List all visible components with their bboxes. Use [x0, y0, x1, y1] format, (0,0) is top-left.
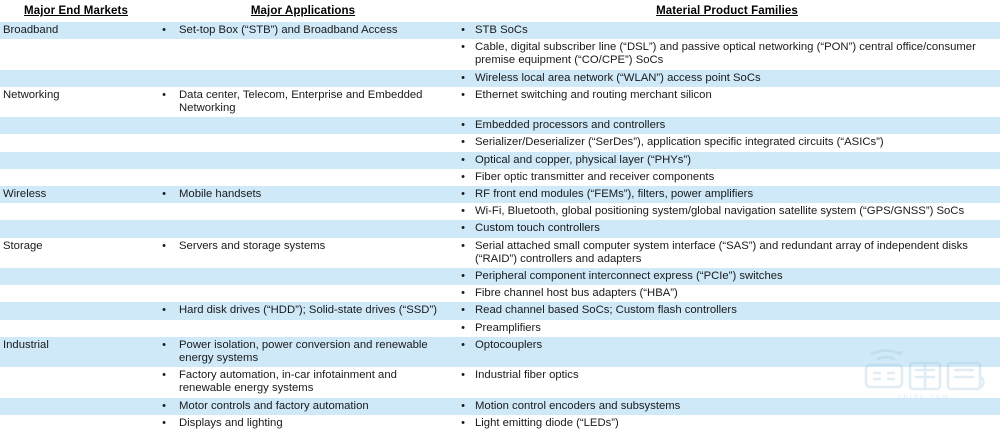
cell-product-family: •Ethernet switching and routing merchant… — [454, 87, 1000, 117]
table-row: Networking•Data center, Telecom, Enterpr… — [0, 87, 1000, 117]
bullet-icon: • — [454, 240, 472, 253]
bullet-icon: • — [454, 339, 472, 352]
bullet-icon: • — [454, 41, 472, 54]
application-bullet-text: Mobile handsets — [176, 188, 448, 201]
end-market-label: Wireless — [0, 186, 152, 203]
application-bullet-text: Motor controls and factory automation — [176, 400, 448, 413]
document-sheet: Major End Markets Major Applications Mat… — [0, 0, 1000, 410]
end-market-label — [0, 367, 152, 384]
application-bullet: •Mobile handsets — [152, 186, 454, 203]
table-header: Major End Markets Major Applications Mat… — [0, 0, 1000, 22]
product-family-bullet: •Embedded processors and controllers — [454, 117, 1000, 134]
bullet-icon: • — [454, 417, 472, 430]
table-row: •Fibre channel host bus adapters (“HBA”) — [0, 285, 1000, 302]
bullet-icon: • — [152, 89, 176, 102]
bullet-icon: • — [454, 369, 472, 382]
table-row: Industrial•Power isolation, power conver… — [0, 337, 1000, 367]
cell-end-market — [0, 117, 152, 134]
product-family-bullet: •Peripheral component interconnect expre… — [454, 268, 1000, 285]
end-market-label — [0, 320, 152, 337]
application-bullet — [152, 117, 454, 134]
end-market-label — [0, 268, 152, 285]
cell-product-family: •STB SoCs — [454, 22, 1000, 39]
cell-product-family: •Optical and copper, physical layer (“PH… — [454, 152, 1000, 169]
product-family-bullet: •Industrial fiber optics — [454, 367, 1000, 384]
cell-end-market — [0, 220, 152, 237]
bullet-icon: • — [152, 240, 176, 253]
bullet-icon: • — [454, 188, 472, 201]
application-bullet — [152, 169, 454, 186]
column-header-major-end-markets: Major End Markets — [0, 0, 152, 22]
cell-end-market: Industrial — [0, 337, 152, 367]
table-header-row: Major End Markets Major Applications Mat… — [0, 0, 1000, 22]
cell-application — [152, 320, 454, 337]
cell-end-market — [0, 285, 152, 302]
table-row: Broadband•Set-top Box (“STB”) and Broadb… — [0, 22, 1000, 39]
bullet-icon: • — [152, 400, 176, 413]
product-family-bullet-text: Light emitting diode (“LEDs”) — [472, 417, 994, 430]
cell-product-family: •Fibre channel host bus adapters (“HBA”) — [454, 285, 1000, 302]
cell-end-market: Networking — [0, 87, 152, 117]
bullet-icon: • — [152, 339, 176, 352]
cell-end-market — [0, 398, 152, 415]
application-bullet: •Servers and storage systems — [152, 238, 454, 255]
cell-application: •Hard disk drives (“HDD”); Solid-state d… — [152, 302, 454, 319]
cell-application: •Set-top Box (“STB”) and Broadband Acces… — [152, 22, 454, 39]
table-row: •Cable, digital subscriber line (“DSL”) … — [0, 39, 1000, 69]
table-row: •Preamplifiers — [0, 320, 1000, 337]
product-family-bullet: •Wireless local area network (“WLAN”) ac… — [454, 70, 1000, 87]
end-market-label — [0, 220, 152, 237]
cell-application: •Factory automation, in-car infotainment… — [152, 367, 454, 397]
cell-product-family: •Custom touch controllers — [454, 220, 1000, 237]
product-family-bullet-text: Preamplifiers — [472, 322, 994, 335]
cell-product-family: •Peripheral component interconnect expre… — [454, 268, 1000, 285]
cell-end-market: Broadband — [0, 22, 152, 39]
table-row: •Motor controls and factory automation•M… — [0, 398, 1000, 415]
column-header-major-applications: Major Applications — [152, 0, 454, 22]
table-row: •Fiber optic transmitter and receiver co… — [0, 169, 1000, 186]
bullet-icon: • — [152, 24, 176, 37]
product-family-bullet: •Optical and copper, physical layer (“PH… — [454, 152, 1000, 169]
bullet-icon: • — [454, 72, 472, 85]
cell-application: •Mobile handsets — [152, 186, 454, 203]
end-market-label: Storage — [0, 238, 152, 255]
product-family-bullet-text: Custom touch controllers — [472, 222, 994, 235]
application-bullet: •Set-top Box (“STB”) and Broadband Acces… — [152, 22, 454, 39]
product-family-bullet: •Preamplifiers — [454, 320, 1000, 337]
bullet-icon: • — [454, 304, 472, 317]
table-row: Storage•Servers and storage systems•Seri… — [0, 238, 1000, 268]
cell-end-market — [0, 320, 152, 337]
application-bullet-text: Displays and lighting — [176, 417, 448, 430]
table-row: •Embedded processors and controllers — [0, 117, 1000, 134]
bullet-icon: • — [454, 400, 472, 413]
application-bullet: •Motor controls and factory automation — [152, 398, 454, 415]
cell-end-market: Storage — [0, 238, 152, 268]
cell-end-market — [0, 169, 152, 186]
cell-application: •Servers and storage systems — [152, 238, 454, 268]
product-family-bullet-text: Optical and copper, physical layer (“PHY… — [472, 154, 994, 167]
table-row: •Wireless local area network (“WLAN”) ac… — [0, 70, 1000, 87]
cell-end-market — [0, 39, 152, 69]
bullet-icon: • — [454, 270, 472, 283]
bullet-icon: • — [454, 24, 472, 37]
application-bullet — [152, 320, 454, 337]
cell-application: •Displays and lighting — [152, 415, 454, 432]
cell-application: •Data center, Telecom, Enterprise and Em… — [152, 87, 454, 117]
application-bullet — [152, 70, 454, 87]
cell-product-family: •Industrial fiber optics — [454, 367, 1000, 397]
product-family-bullet: •Fibre channel host bus adapters (“HBA”) — [454, 285, 1000, 302]
table-row: •Displays and lighting•Light emitting di… — [0, 415, 1000, 432]
cell-application — [152, 152, 454, 169]
cell-product-family: •Motion control encoders and subsystems — [454, 398, 1000, 415]
product-family-bullet-text: Wireless local area network (“WLAN”) acc… — [472, 72, 994, 85]
cell-product-family: •Embedded processors and controllers — [454, 117, 1000, 134]
end-market-label — [0, 285, 152, 302]
table-row: •Peripheral component interconnect expre… — [0, 268, 1000, 285]
application-bullet-text: Power isolation, power conversion and re… — [176, 339, 448, 365]
cell-application — [152, 134, 454, 151]
application-bullet — [152, 268, 454, 285]
cell-application — [152, 203, 454, 220]
application-bullet: •Hard disk drives (“HDD”); Solid-state d… — [152, 302, 454, 319]
bullet-icon: • — [454, 322, 472, 335]
application-bullet-text: Data center, Telecom, Enterprise and Emb… — [176, 89, 448, 115]
column-header-material-product-families: Material Product Families — [454, 0, 1000, 22]
end-market-label: Industrial — [0, 337, 152, 354]
application-bullet — [152, 203, 454, 220]
end-market-label — [0, 39, 152, 56]
product-family-bullet: •STB SoCs — [454, 22, 1000, 39]
application-bullet-text: Factory automation, in-car infotainment … — [176, 369, 448, 395]
application-bullet: •Power isolation, power conversion and r… — [152, 337, 454, 367]
product-family-bullet-text: Peripheral component interconnect expres… — [472, 270, 994, 283]
cell-end-market — [0, 70, 152, 87]
table-row: •Wi-Fi, Bluetooth, global positioning sy… — [0, 203, 1000, 220]
application-bullet-text: Hard disk drives (“HDD”); Solid-state dr… — [176, 304, 448, 317]
cell-end-market — [0, 268, 152, 285]
end-market-label — [0, 302, 152, 319]
end-market-label — [0, 203, 152, 220]
end-market-label — [0, 415, 152, 432]
table-row: Wireless•Mobile handsets•RF front end mo… — [0, 186, 1000, 203]
end-market-label — [0, 70, 152, 87]
application-bullet — [152, 152, 454, 169]
end-markets-table: Major End Markets Major Applications Mat… — [0, 0, 1000, 432]
product-family-bullet-text: Cable, digital subscriber line (“DSL”) a… — [472, 41, 994, 67]
application-bullet-text: Set-top Box (“STB”) and Broadband Access — [176, 24, 448, 37]
cell-product-family: •Wireless local area network (“WLAN”) ac… — [454, 70, 1000, 87]
bullet-icon: • — [454, 119, 472, 132]
application-bullet — [152, 220, 454, 237]
cell-application — [152, 70, 454, 87]
bullet-icon: • — [454, 222, 472, 235]
cell-end-market — [0, 415, 152, 432]
application-bullet — [152, 285, 454, 302]
bullet-icon: • — [152, 188, 176, 201]
product-family-bullet-text: Embedded processors and controllers — [472, 119, 994, 132]
product-family-bullet: •Cable, digital subscriber line (“DSL”) … — [454, 39, 1000, 69]
cell-application — [152, 268, 454, 285]
application-bullet: •Factory automation, in-car infotainment… — [152, 367, 454, 397]
table-row: •Serializer/Deserializer (“SerDes”), app… — [0, 134, 1000, 151]
end-market-label — [0, 117, 152, 134]
bullet-icon: • — [454, 205, 472, 218]
product-family-bullet: •Fiber optic transmitter and receiver co… — [454, 169, 1000, 186]
product-family-bullet-text: Motion control encoders and subsystems — [472, 400, 994, 413]
product-family-bullet: •Light emitting diode (“LEDs”) — [454, 415, 1000, 432]
bullet-icon: • — [454, 171, 472, 184]
end-market-label — [0, 169, 152, 186]
end-market-label — [0, 134, 152, 151]
cell-end-market — [0, 367, 152, 397]
application-bullet: •Displays and lighting — [152, 415, 454, 432]
product-family-bullet-text: Industrial fiber optics — [472, 369, 994, 382]
application-bullet-text: Servers and storage systems — [176, 240, 448, 253]
cell-product-family: •Fiber optic transmitter and receiver co… — [454, 169, 1000, 186]
bullet-icon: • — [454, 89, 472, 102]
product-family-bullet-text: Serial attached small computer system in… — [472, 240, 994, 266]
cell-application: •Power isolation, power conversion and r… — [152, 337, 454, 367]
bullet-icon: • — [454, 136, 472, 149]
application-bullet — [152, 39, 454, 56]
product-family-bullet: •Serializer/Deserializer (“SerDes”), app… — [454, 134, 1000, 151]
product-family-bullet-text: Fibre channel host bus adapters (“HBA”) — [472, 287, 994, 300]
product-family-bullet: •Ethernet switching and routing merchant… — [454, 87, 1000, 104]
product-family-bullet-text: Ethernet switching and routing merchant … — [472, 89, 994, 102]
product-family-bullet: •Optocouplers — [454, 337, 1000, 354]
cell-end-market — [0, 152, 152, 169]
product-family-bullet: •Serial attached small computer system i… — [454, 238, 1000, 268]
cell-end-market — [0, 203, 152, 220]
cell-product-family: •Cable, digital subscriber line (“DSL”) … — [454, 39, 1000, 69]
bullet-icon: • — [152, 369, 176, 382]
cell-product-family: •Optocouplers — [454, 337, 1000, 367]
bullet-icon: • — [454, 287, 472, 300]
cell-product-family: •Read channel based SoCs; Custom flash c… — [454, 302, 1000, 319]
product-family-bullet: •Motion control encoders and subsystems — [454, 398, 1000, 415]
cell-product-family: •RF front end modules (“FEMs”), filters,… — [454, 186, 1000, 203]
cell-application: •Motor controls and factory automation — [152, 398, 454, 415]
product-family-bullet: •Custom touch controllers — [454, 220, 1000, 237]
product-family-bullet-text: STB SoCs — [472, 24, 994, 37]
product-family-bullet-text: Fiber optic transmitter and receiver com… — [472, 171, 994, 184]
end-market-label — [0, 152, 152, 169]
product-family-bullet-text: Optocouplers — [472, 339, 994, 352]
table-body: Broadband•Set-top Box (“STB”) and Broadb… — [0, 22, 1000, 432]
cell-end-market — [0, 302, 152, 319]
cell-application — [152, 220, 454, 237]
cell-application — [152, 117, 454, 134]
table-row: •Custom touch controllers — [0, 220, 1000, 237]
application-bullet: •Data center, Telecom, Enterprise and Em… — [152, 87, 454, 117]
end-market-label — [0, 398, 152, 415]
table-row: •Optical and copper, physical layer (“PH… — [0, 152, 1000, 169]
product-family-bullet: •Read channel based SoCs; Custom flash c… — [454, 302, 1000, 319]
product-family-bullet-text: Read channel based SoCs; Custom flash co… — [472, 304, 994, 317]
bullet-icon: • — [152, 304, 176, 317]
product-family-bullet: •RF front end modules (“FEMs”), filters,… — [454, 186, 1000, 203]
application-bullet — [152, 134, 454, 151]
cell-application — [152, 39, 454, 69]
cell-end-market: Wireless — [0, 186, 152, 203]
cell-application — [152, 285, 454, 302]
table-row: •Factory automation, in-car infotainment… — [0, 367, 1000, 397]
cell-product-family: •Light emitting diode (“LEDs”) — [454, 415, 1000, 432]
cell-product-family: •Preamplifiers — [454, 320, 1000, 337]
table-row: •Hard disk drives (“HDD”); Solid-state d… — [0, 302, 1000, 319]
cell-application — [152, 169, 454, 186]
cell-product-family: •Wi-Fi, Bluetooth, global positioning sy… — [454, 203, 1000, 220]
product-family-bullet-text: Wi-Fi, Bluetooth, global positioning sys… — [472, 205, 994, 218]
cell-product-family: •Serial attached small computer system i… — [454, 238, 1000, 268]
end-market-label: Networking — [0, 87, 152, 104]
cell-end-market — [0, 134, 152, 151]
product-family-bullet-text: RF front end modules (“FEMs”), filters, … — [472, 188, 994, 201]
cell-product-family: •Serializer/Deserializer (“SerDes”), app… — [454, 134, 1000, 151]
bullet-icon: • — [454, 154, 472, 167]
end-market-label: Broadband — [0, 22, 152, 39]
bullet-icon: • — [152, 417, 176, 430]
product-family-bullet-text: Serializer/Deserializer (“SerDes”), appl… — [472, 136, 994, 149]
product-family-bullet: •Wi-Fi, Bluetooth, global positioning sy… — [454, 203, 1000, 220]
